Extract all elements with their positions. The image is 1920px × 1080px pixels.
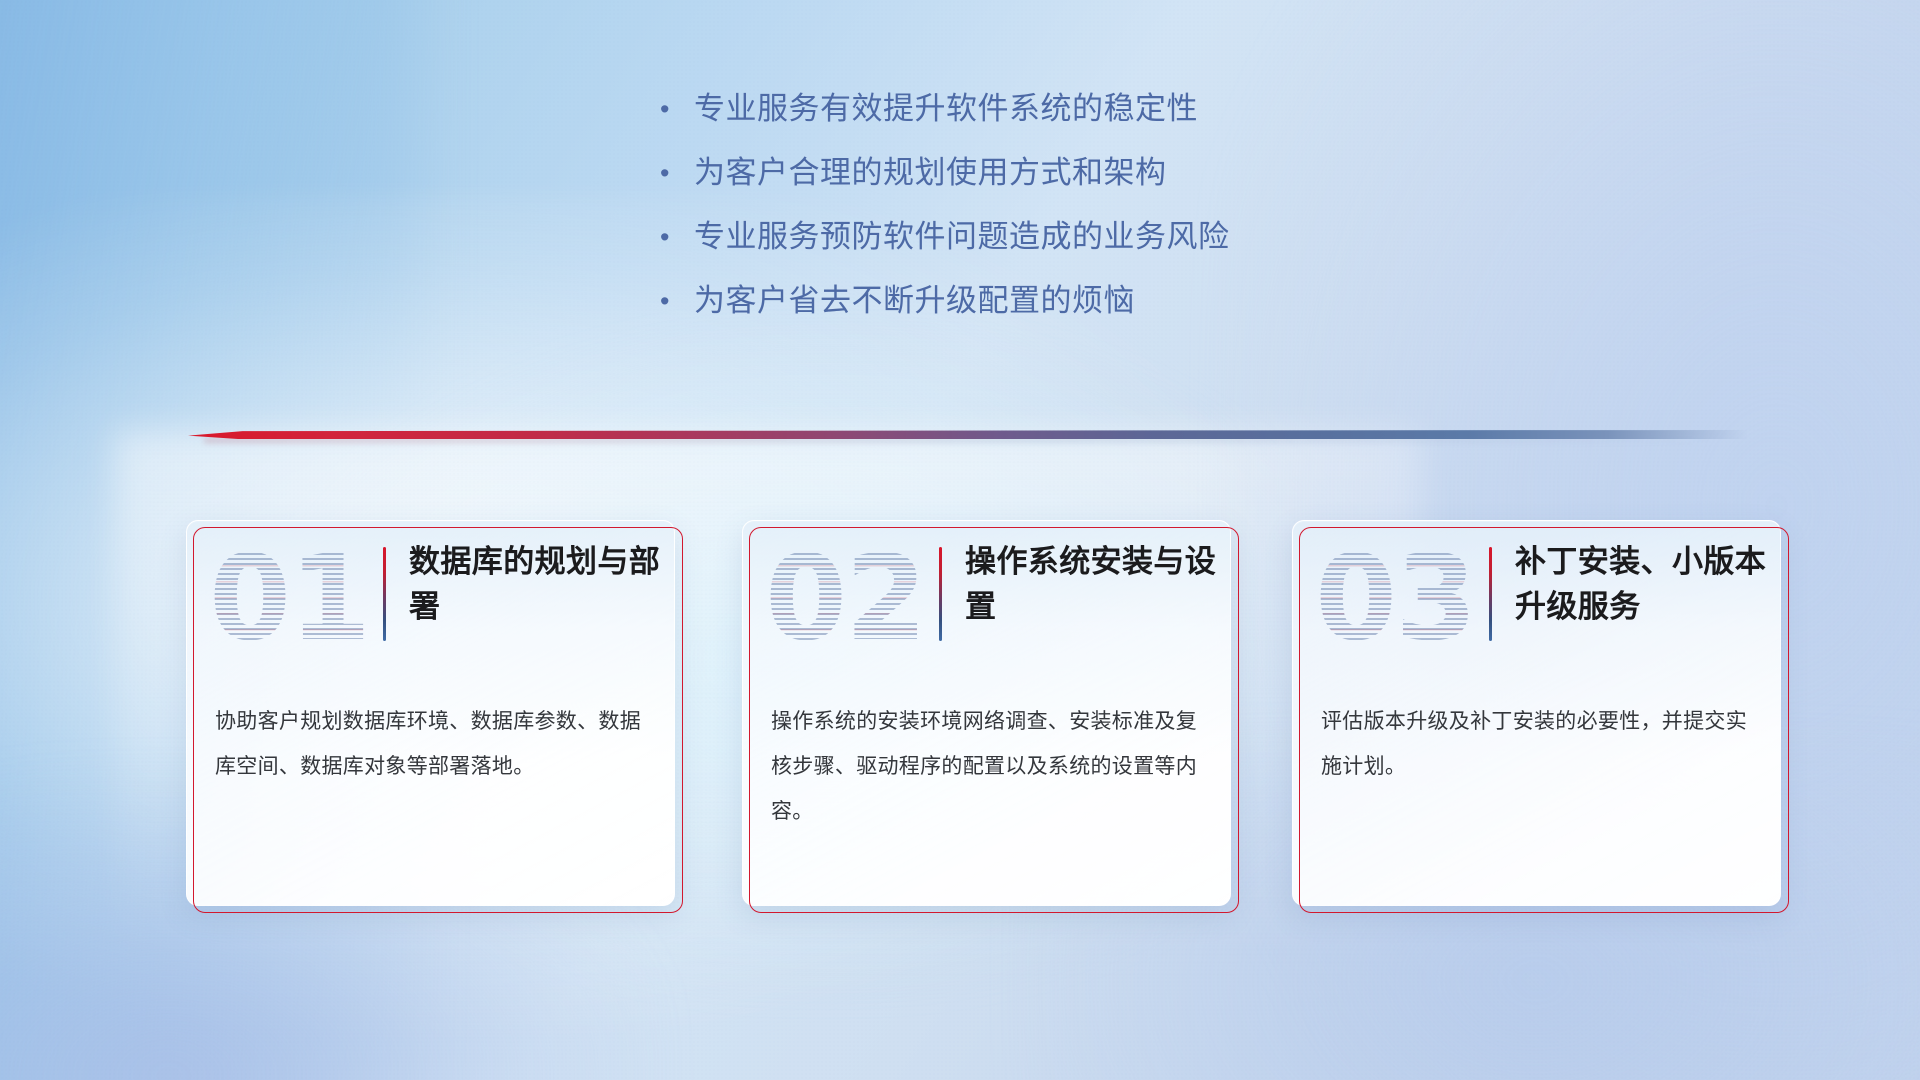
- card-header: 02 02 操作系统安装与设置: [743, 521, 1230, 671]
- title-accent-bar: [1489, 547, 1492, 641]
- bullet-item-1-text: 专业服务有效提升软件系统的稳定性: [694, 92, 1198, 126]
- benefits-bullet-list: • 专业服务有效提升软件系统的稳定性 • 为客户合理的规划使用方式和架构 • 专…: [660, 92, 1480, 348]
- card-body-text: 协助客户规划数据库环境、数据库参数、数据库空间、数据库对象等部署落地。: [215, 699, 651, 789]
- card-title: 数据库的规划与部署: [409, 539, 661, 629]
- bullet-marker-icon: •: [660, 220, 694, 254]
- service-card-03[interactable]: 03 03 补丁安装、小版本升级服务 评估版本升级及补丁安装的必要性，并提交实施…: [1292, 520, 1788, 912]
- card-panel: 02 02 操作系统安装与设置 操作系统的安装环境网络调查、安装标准及复核步骤、…: [742, 520, 1231, 906]
- card-title: 补丁安装、小版本升级服务: [1515, 539, 1767, 629]
- bullet-item-1: • 专业服务有效提升软件系统的稳定性: [660, 92, 1480, 156]
- divider-gradient-line: [188, 430, 1748, 439]
- service-card-row: 01 01 数据库的规划与部署 协助客户规划数据库环境、数据库参数、数据库空间、…: [0, 520, 1920, 930]
- bullet-marker-icon: •: [660, 284, 694, 318]
- bullet-marker-icon: •: [660, 156, 694, 190]
- card-body-text: 操作系统的安装环境网络调查、安装标准及复核步骤、驱动程序的配置以及系统的设置等内…: [771, 699, 1207, 834]
- bullet-item-2: • 为客户合理的规划使用方式和架构: [660, 156, 1480, 220]
- bullet-item-4-text: 为客户省去不断升级配置的烦恼: [694, 284, 1135, 318]
- bullet-marker-icon: •: [660, 92, 694, 126]
- card-panel: 03 03 补丁安装、小版本升级服务 评估版本升级及补丁安装的必要性，并提交实施…: [1292, 520, 1781, 906]
- service-card-01[interactable]: 01 01 数据库的规划与部署 协助客户规划数据库环境、数据库参数、数据库空间、…: [186, 520, 682, 912]
- card-body-text: 评估版本升级及补丁安装的必要性，并提交实施计划。: [1321, 699, 1757, 789]
- card-header: 01 01 数据库的规划与部署: [187, 521, 674, 671]
- section-divider: [188, 424, 1748, 446]
- bullet-item-2-text: 为客户合理的规划使用方式和架构: [694, 156, 1167, 190]
- service-card-02[interactable]: 02 02 操作系统安装与设置 操作系统的安装环境网络调查、安装标准及复核步骤、…: [742, 520, 1238, 912]
- card-panel: 01 01 数据库的规划与部署 协助客户规划数据库环境、数据库参数、数据库空间、…: [186, 520, 675, 906]
- watermark-number-tint-icon: 01: [209, 533, 369, 663]
- title-accent-bar: [939, 547, 942, 641]
- watermark-number-tint-icon: 03: [1315, 533, 1475, 663]
- bullet-item-4: • 为客户省去不断升级配置的烦恼: [660, 284, 1480, 348]
- title-accent-bar: [383, 547, 386, 641]
- card-header: 03 03 补丁安装、小版本升级服务: [1293, 521, 1780, 671]
- bullet-item-3-text: 专业服务预防软件问题造成的业务风险: [694, 220, 1230, 254]
- watermark-number-tint-icon: 02: [765, 533, 925, 663]
- card-title: 操作系统安装与设置: [965, 539, 1217, 629]
- bullet-item-3: • 专业服务预防软件问题造成的业务风险: [660, 220, 1480, 284]
